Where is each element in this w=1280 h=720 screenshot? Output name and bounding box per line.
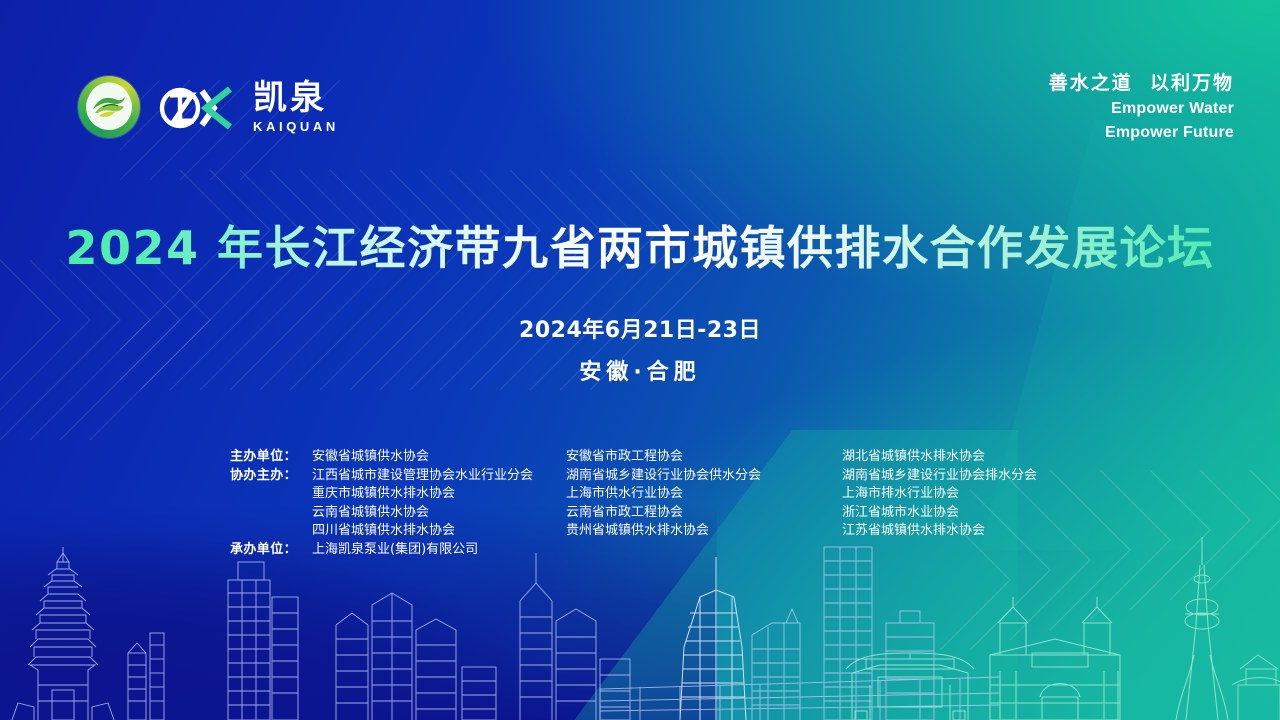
kaiquan-wordmark: 凯泉 KAIQUAN <box>253 81 339 133</box>
organizers-column-mid: 安徽省市政工程协会 湖南省城乡建设行业协会供水分会 上海市供水行业协会 云南省市… <box>566 448 761 541</box>
slogan-en-line1: Empower Water <box>1049 99 1234 119</box>
organizers-column-left: 主办单位： 安徽省城镇供水协会 协办主办： 江西省城市建设管理协会水业行业分会 … <box>230 448 533 560</box>
organizer-row: 协办主办： 云南省城镇供水协会 <box>230 504 533 523</box>
chevron-pattern-left <box>0 140 230 440</box>
city-skyline-illustration <box>0 535 1280 720</box>
organizer-item: 上海市供水行业协会 <box>566 485 761 504</box>
organizer-item: 湖南省城乡建设行业协会供水分会 <box>566 467 761 486</box>
organizer-value: 江西省城市建设管理协会水业行业分会 <box>312 467 533 486</box>
organizers-block: 主办单位： 安徽省城镇供水协会 协办主办： 江西省城市建设管理协会水业行业分会 … <box>0 448 1280 558</box>
kaiquan-en-text: KAIQUAN <box>253 120 339 133</box>
organizer-label: 协办主办： <box>230 467 312 486</box>
header-bar: 凯泉 KAIQUAN 善水之道 以利万物 Empower Water Empow… <box>0 0 1280 175</box>
organizers-column-right: 湖北省城镇供水排水协会 湖南省城乡建设行业协会排水分会 上海市排水行业协会 浙江… <box>842 448 1037 541</box>
organizer-row: 协办主办： 四川省城镇供水排水协会 <box>230 522 533 541</box>
organizer-value: 重庆市城镇供水排水协会 <box>312 485 455 504</box>
emblem-disc <box>86 84 132 130</box>
organizer-item: 云南省市政工程协会 <box>566 504 761 523</box>
organizer-value: 四川省城镇供水排水协会 <box>312 522 455 541</box>
organizer-item: 贵州省城镇供水排水协会 <box>566 522 761 541</box>
slogan-block: 善水之道 以利万物 Empower Water Empower Future <box>1049 68 1234 142</box>
organizer-value: 安徽省城镇供水协会 <box>312 448 429 467</box>
organizer-item: 安徽省市政工程协会 <box>566 448 761 467</box>
banner-canvas: 凯泉 KAIQUAN 善水之道 以利万物 Empower Water Empow… <box>0 0 1280 720</box>
organizer-value: 上海凯泉泵业(集团)有限公司 <box>312 541 478 560</box>
event-meta: 2024年6月21日-23日 安徽·合肥 <box>0 312 1280 386</box>
kaiquan-logo: 凯泉 KAIQUAN <box>158 81 339 133</box>
organizer-value: 云南省城镇供水协会 <box>312 504 429 523</box>
association-emblem-icon <box>78 76 140 138</box>
event-location: 安徽·合肥 <box>0 354 1280 386</box>
organizer-item: 江苏省城镇供水排水协会 <box>842 522 1037 541</box>
organizer-item: 湖南省城乡建设行业协会排水分会 <box>842 467 1037 486</box>
organizer-item: 上海市排水行业协会 <box>842 485 1037 504</box>
organizer-row: 协办主办： 重庆市城镇供水排水协会 <box>230 485 533 504</box>
event-title: 2024 年长江经济带九省两市城镇供排水合作发展论坛 <box>0 212 1280 278</box>
organizer-row: 承办单位： 上海凯泉泵业(集团)有限公司 <box>230 541 533 560</box>
slogan-en-line2: Empower Future <box>1049 123 1234 143</box>
organizer-label: 主办单位： <box>230 448 312 467</box>
organizer-label: 承办单位： <box>230 541 312 560</box>
event-date: 2024年6月21日-23日 <box>0 312 1280 344</box>
slogan-cn: 善水之道 以利万物 <box>1049 68 1234 95</box>
organizer-item: 湖北省城镇供水排水协会 <box>842 448 1037 467</box>
organizer-row: 主办单位： 安徽省城镇供水协会 <box>230 448 533 467</box>
logo-group: 凯泉 KAIQUAN <box>78 76 339 138</box>
organizer-row: 协办主办： 江西省城市建设管理协会水业行业分会 <box>230 467 533 486</box>
kaiquan-cn-text: 凯泉 <box>253 81 339 115</box>
organizer-item: 浙江省城市水业协会 <box>842 504 1037 523</box>
kaiquan-mark-icon <box>158 83 242 131</box>
